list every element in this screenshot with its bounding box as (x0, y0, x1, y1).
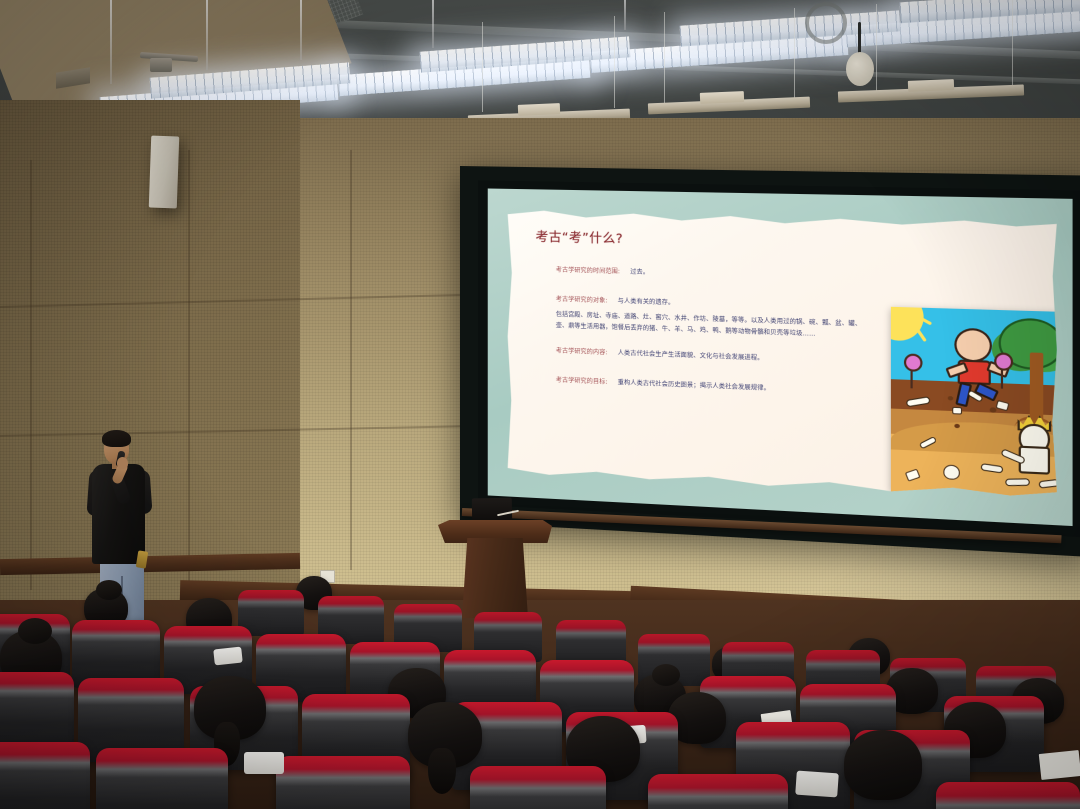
seat[interactable] (648, 774, 788, 809)
flower-icon (904, 353, 923, 372)
soil-speck (948, 396, 954, 400)
seat[interactable] (276, 756, 410, 809)
slide-label: 考古学研究的时间范围: (556, 267, 620, 276)
acoustic-baffle-cap (908, 79, 954, 92)
projector-housing (150, 58, 172, 72)
acoustic-baffle-cap (518, 103, 560, 116)
slide-label: 考古学研究的对象: (556, 296, 608, 305)
wall-speaker-icon (149, 136, 179, 209)
slide-label: 考古学研究的内容: (556, 347, 608, 356)
slide-value: 过去。 (630, 268, 649, 276)
acoustic-baffle-cap (700, 91, 744, 104)
seat[interactable] (0, 742, 90, 809)
student-ponytail (428, 748, 456, 794)
ceiling-sensor-icon (846, 52, 874, 86)
student-collar (213, 647, 243, 666)
lecture-hall-photo: 考古“考”什么? 考古学研究的时间范围:过去。 考古学研究的对象:与人类有关的遗… (0, 0, 1080, 809)
slide-title: 考古“考”什么? (536, 226, 623, 247)
student-hair-bun (18, 618, 52, 644)
slide-value: 与人类有关的遗存。 (618, 298, 675, 307)
boy-head-icon (954, 327, 992, 362)
podium-body (462, 538, 528, 618)
slide-value: 重构人类古代社会历史图景；揭示人类社会发展规律。 (618, 379, 770, 392)
panel-seam (30, 160, 32, 590)
student-hair-bun (96, 580, 122, 600)
bone-icon (1005, 479, 1030, 487)
student-head (844, 730, 922, 800)
slide-value: 人类古代社会生产生活面貌、文化与社会发展进程。 (618, 350, 764, 362)
ceiling-ring-fixture (805, 2, 847, 44)
artifact-fragment-icon (952, 407, 962, 415)
light-support-rod (432, 0, 434, 48)
presenter-hair (102, 430, 131, 447)
baffle-wire (664, 12, 665, 106)
light-support-rod (300, 0, 302, 60)
light-support-rod (206, 0, 208, 70)
baffle-wire (794, 8, 795, 98)
seat[interactable] (96, 748, 228, 809)
soil-speck (990, 407, 997, 413)
projection-screen[interactable]: 考古“考”什么? 考古学研究的时间范围:过去。 考古学研究的对象:与人类有关的遗… (460, 166, 1080, 557)
slide-label: 考古学研究的目标: (556, 377, 608, 386)
baffle-wire (614, 16, 615, 108)
baffle-wire (1012, 0, 1013, 86)
light-support-rod (624, 0, 626, 30)
slide-paper: 考古“考”什么? 考古学研究的时间范围:过去。 考古学研究的对象:与人类有关的遗… (508, 209, 1057, 502)
seat[interactable] (470, 766, 606, 809)
slide-illustration (891, 307, 1068, 500)
presenter-hand (117, 457, 128, 469)
student-hair-bun (652, 664, 680, 686)
slide-background-mat: 考古“考”什么? 考古学研究的时间范围:过去。 考古学研究的对象:与人类有关的遗… (488, 188, 1073, 526)
student-collar (244, 752, 284, 774)
baffle-wire (876, 4, 877, 94)
panel-seam (350, 150, 352, 570)
panel-seam (188, 150, 190, 590)
handout-paper (1039, 750, 1080, 780)
screen-surface: 考古“考”什么? 考古学研究的时间范围:过去。 考古学研究的对象:与人类有关的遗… (478, 180, 1080, 537)
pottery-icon (943, 464, 960, 480)
baffle-wire (482, 22, 483, 112)
student-collar (795, 771, 839, 798)
light-support-rod (110, 0, 112, 84)
slide-body: 考古学研究的时间范围:过去。 考古学研究的对象:与人类有关的遗存。 包括宫殿、房… (556, 258, 891, 403)
seat[interactable] (936, 782, 1080, 809)
sensor-cable (858, 22, 861, 56)
